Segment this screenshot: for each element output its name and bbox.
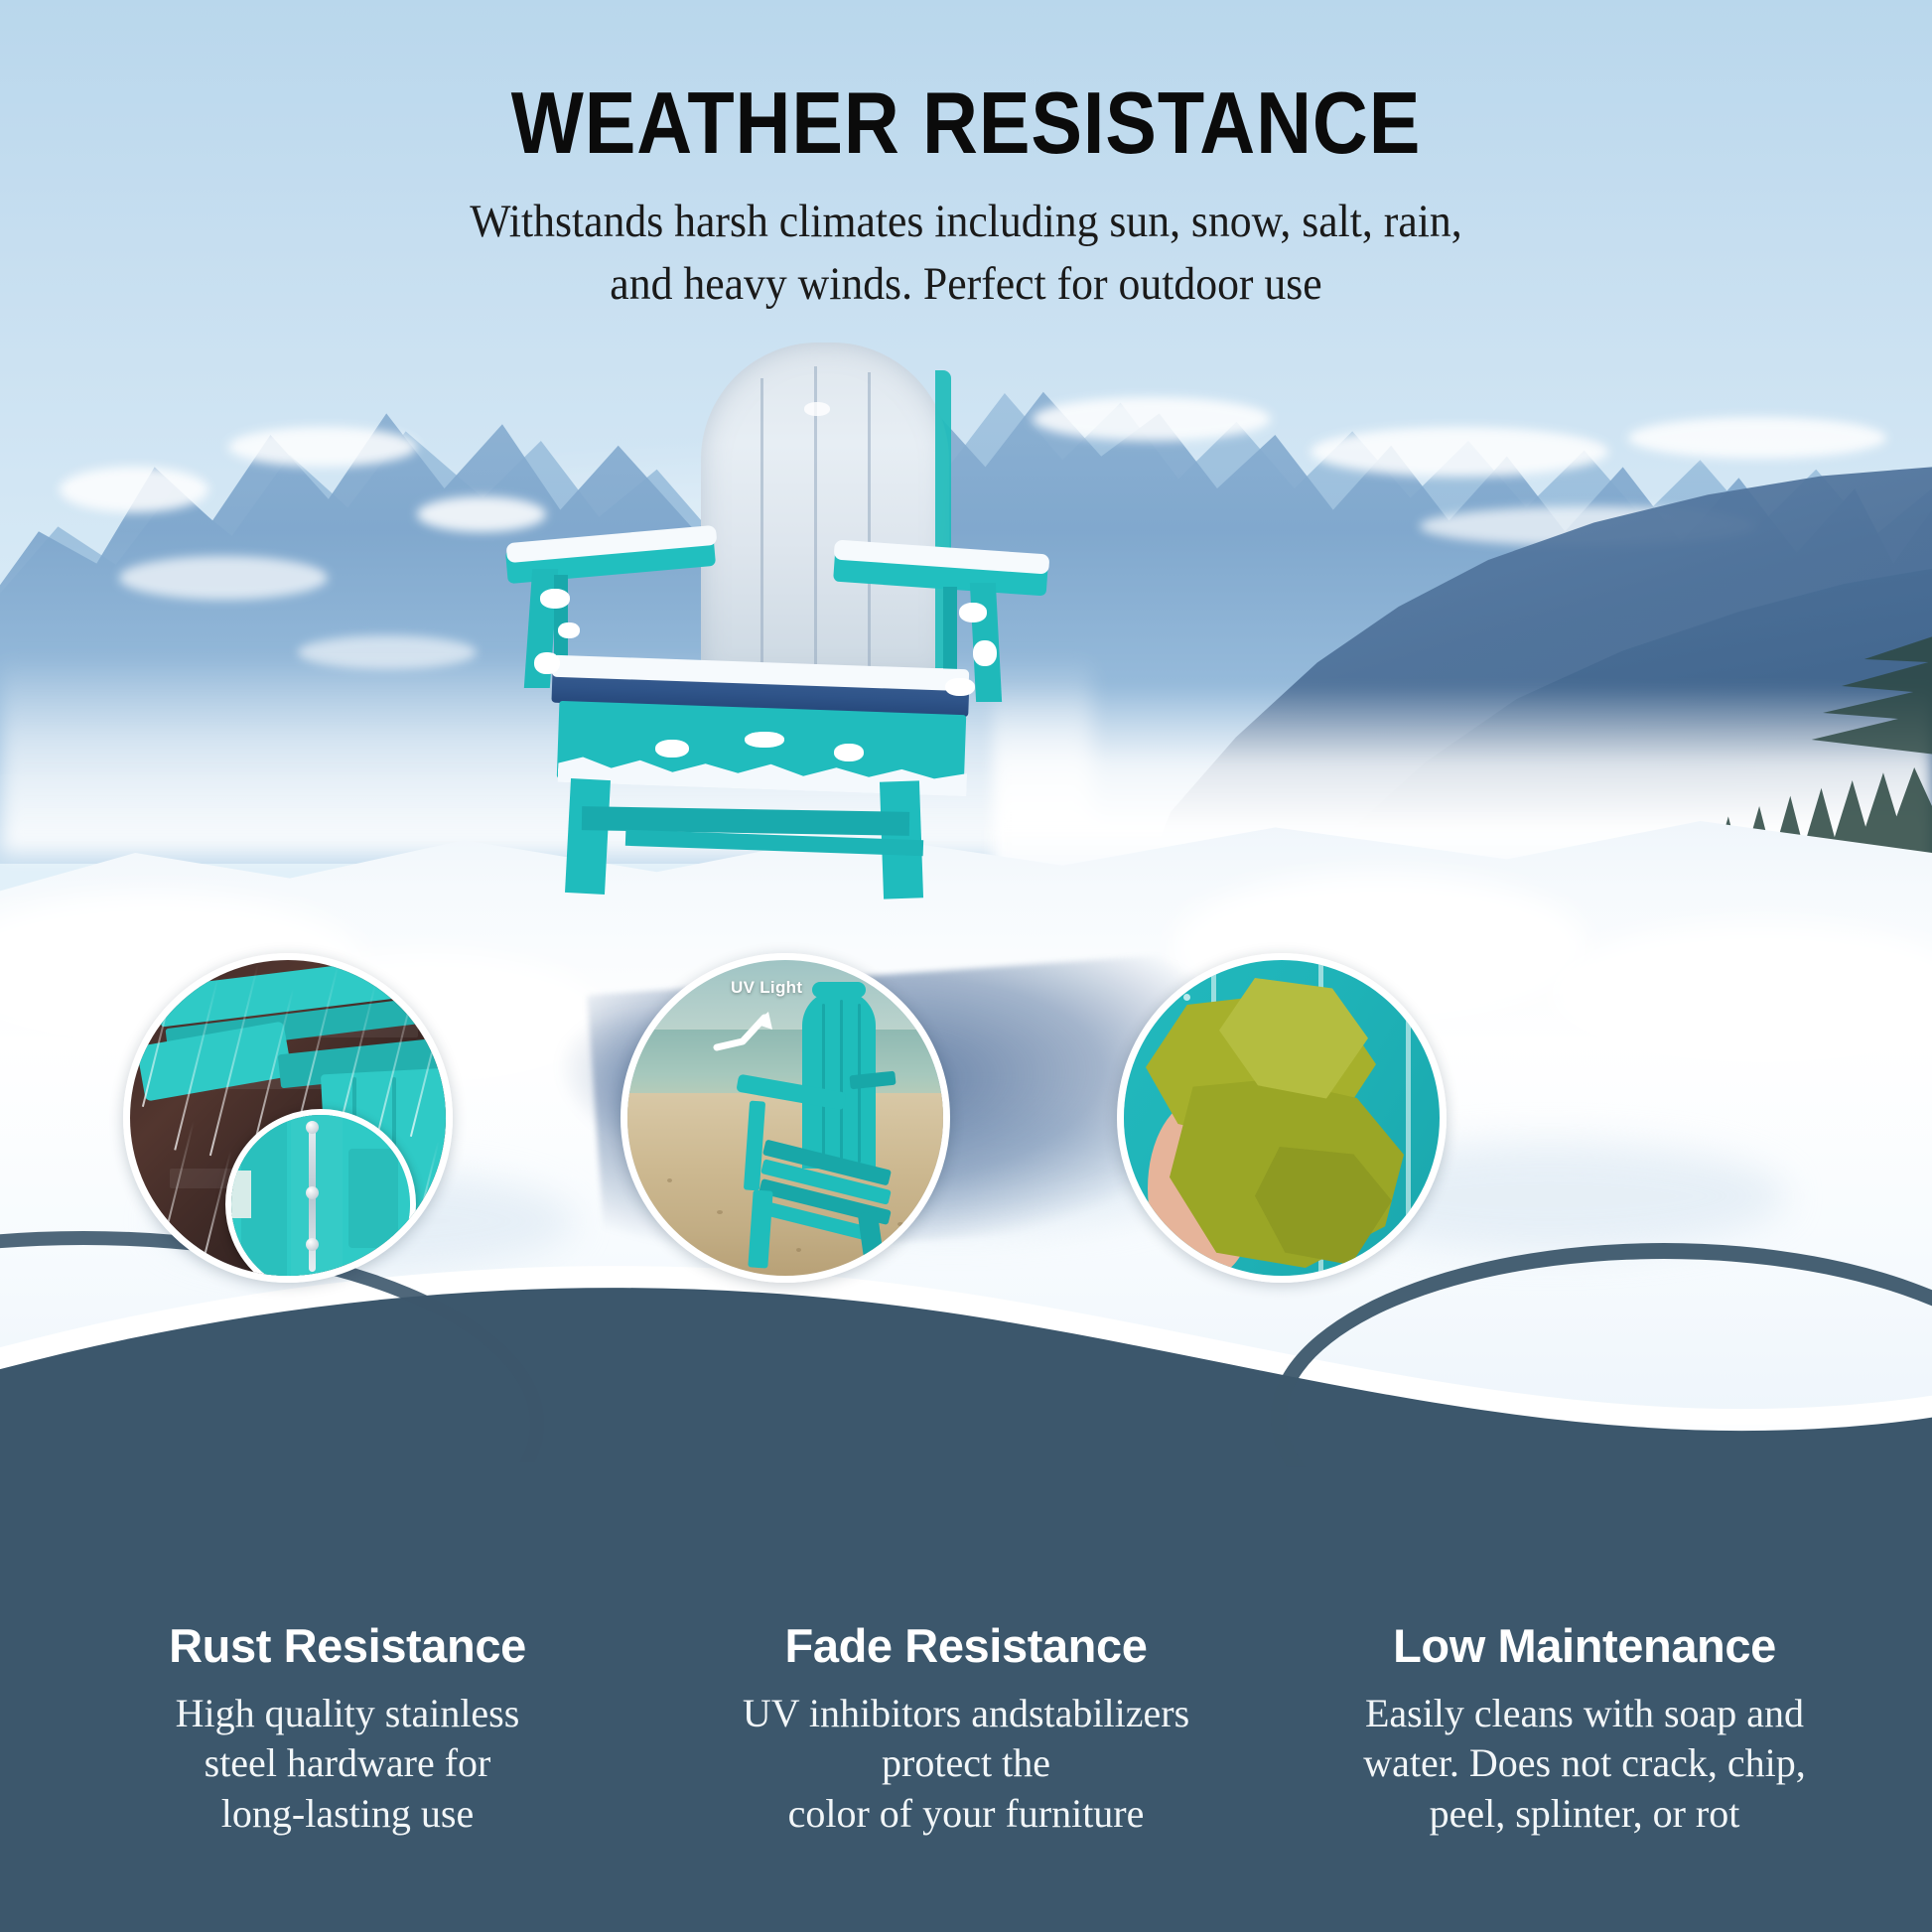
chain-ball — [306, 1121, 319, 1134]
feature-heading: Fade Resistance — [678, 1618, 1254, 1673]
feature-body-line: color of your furniture — [678, 1789, 1254, 1839]
snow-fleck — [804, 402, 830, 416]
rust-scene — [130, 960, 446, 1276]
subtitle-line-1: Withstands harsh climates including sun,… — [68, 191, 1864, 253]
sand-speck — [717, 1210, 723, 1214]
sand-speck — [667, 1178, 672, 1182]
feature-body: High quality stainless steel hardware fo… — [60, 1689, 635, 1839]
feature-image-low-maintenance[interactable] — [1117, 953, 1447, 1283]
snow-fleck — [834, 744, 864, 761]
snow-patch — [1628, 417, 1886, 459]
feature-body-line: water. Does not crack, chip, — [1297, 1738, 1872, 1788]
feature-body-line: Easily cleans with soap and — [1297, 1689, 1872, 1738]
sand-speck — [897, 1222, 903, 1226]
feature-body-line: steel hardware for — [60, 1738, 635, 1788]
chair-back-gap — [822, 1004, 825, 1163]
snow-fleck — [540, 589, 570, 609]
feature-body-line: peel, splinter, or rot — [1297, 1789, 1872, 1839]
feature-body: UV inhibitors andstabilizers protect the… — [678, 1689, 1254, 1839]
feature-image-fade-resistance[interactable]: UV Light — [621, 953, 950, 1283]
snow-fleck — [959, 603, 987, 622]
infographic-canvas: UV Light WEATHER RESISTANCE Withstands h… — [0, 0, 1932, 1932]
feature-body-line: long-lasting use — [60, 1789, 635, 1839]
chair-left-leg — [565, 778, 611, 895]
snow-patch — [60, 467, 208, 512]
page-subtitle: Withstands harsh climates including sun,… — [68, 191, 1864, 316]
feature-caption-row: Rust Resistance High quality stainless s… — [0, 1618, 1932, 1839]
feature-body: Easily cleans with soap and water. Does … — [1297, 1689, 1872, 1839]
chair-headrest — [812, 982, 866, 998]
uv-light-label: UV Light — [731, 978, 802, 998]
snow-fleck — [973, 640, 997, 666]
feature-heading: Low Maintenance — [1297, 1618, 1872, 1673]
hero-adirondack-chair — [506, 343, 1023, 898]
page-title: WEATHER RESISTANCE — [116, 79, 1816, 167]
chair-back-panel — [701, 343, 949, 680]
feature-body-line: UV inhibitors andstabilizers — [678, 1689, 1254, 1738]
subtitle-line-2: and heavy winds. Perfect for outdoor use — [68, 253, 1864, 316]
snow-patch — [1033, 397, 1271, 441]
snow-fleck — [745, 732, 784, 748]
cleaning-scene — [1124, 960, 1440, 1276]
snow-fleck — [558, 622, 580, 638]
sand-speck — [796, 1248, 801, 1252]
snow-fleck — [655, 740, 689, 758]
screw-head — [1183, 994, 1190, 1001]
feature-fade-resistance: Fade Resistance UV inhibitors andstabili… — [678, 1618, 1254, 1839]
feature-body-line: High quality stainless — [60, 1689, 635, 1738]
screw-head — [1372, 1246, 1379, 1253]
feature-image-rust-resistance[interactable] — [123, 953, 453, 1283]
snow-fleck — [945, 678, 975, 696]
chair-back-seam — [868, 372, 871, 668]
chair-back-gap — [840, 1000, 843, 1163]
snow-patch — [119, 556, 328, 600]
uv-light-arrow-icon — [713, 1006, 782, 1053]
hardware-closeup-inset — [225, 1109, 416, 1283]
feature-rust-resistance: Rust Resistance High quality stainless s… — [60, 1618, 635, 1839]
snow-patch — [228, 427, 417, 467]
slat-seam — [1406, 960, 1411, 1276]
chain-ball — [306, 1238, 319, 1251]
snow-fleck — [534, 652, 560, 674]
feature-low-maintenance: Low Maintenance Easily cleans with soap … — [1297, 1618, 1872, 1839]
snow-patch — [1311, 427, 1608, 477]
hardware-edge-highlight — [231, 1171, 251, 1218]
chair-back-seam — [760, 378, 763, 668]
hardware-post-right — [348, 1149, 398, 1248]
hardware-post-center — [291, 1115, 343, 1282]
chain-ball — [306, 1186, 319, 1199]
beach-scene: UV Light — [627, 960, 943, 1276]
feature-heading: Rust Resistance — [60, 1618, 635, 1673]
feature-body-line: protect the — [678, 1738, 1254, 1788]
